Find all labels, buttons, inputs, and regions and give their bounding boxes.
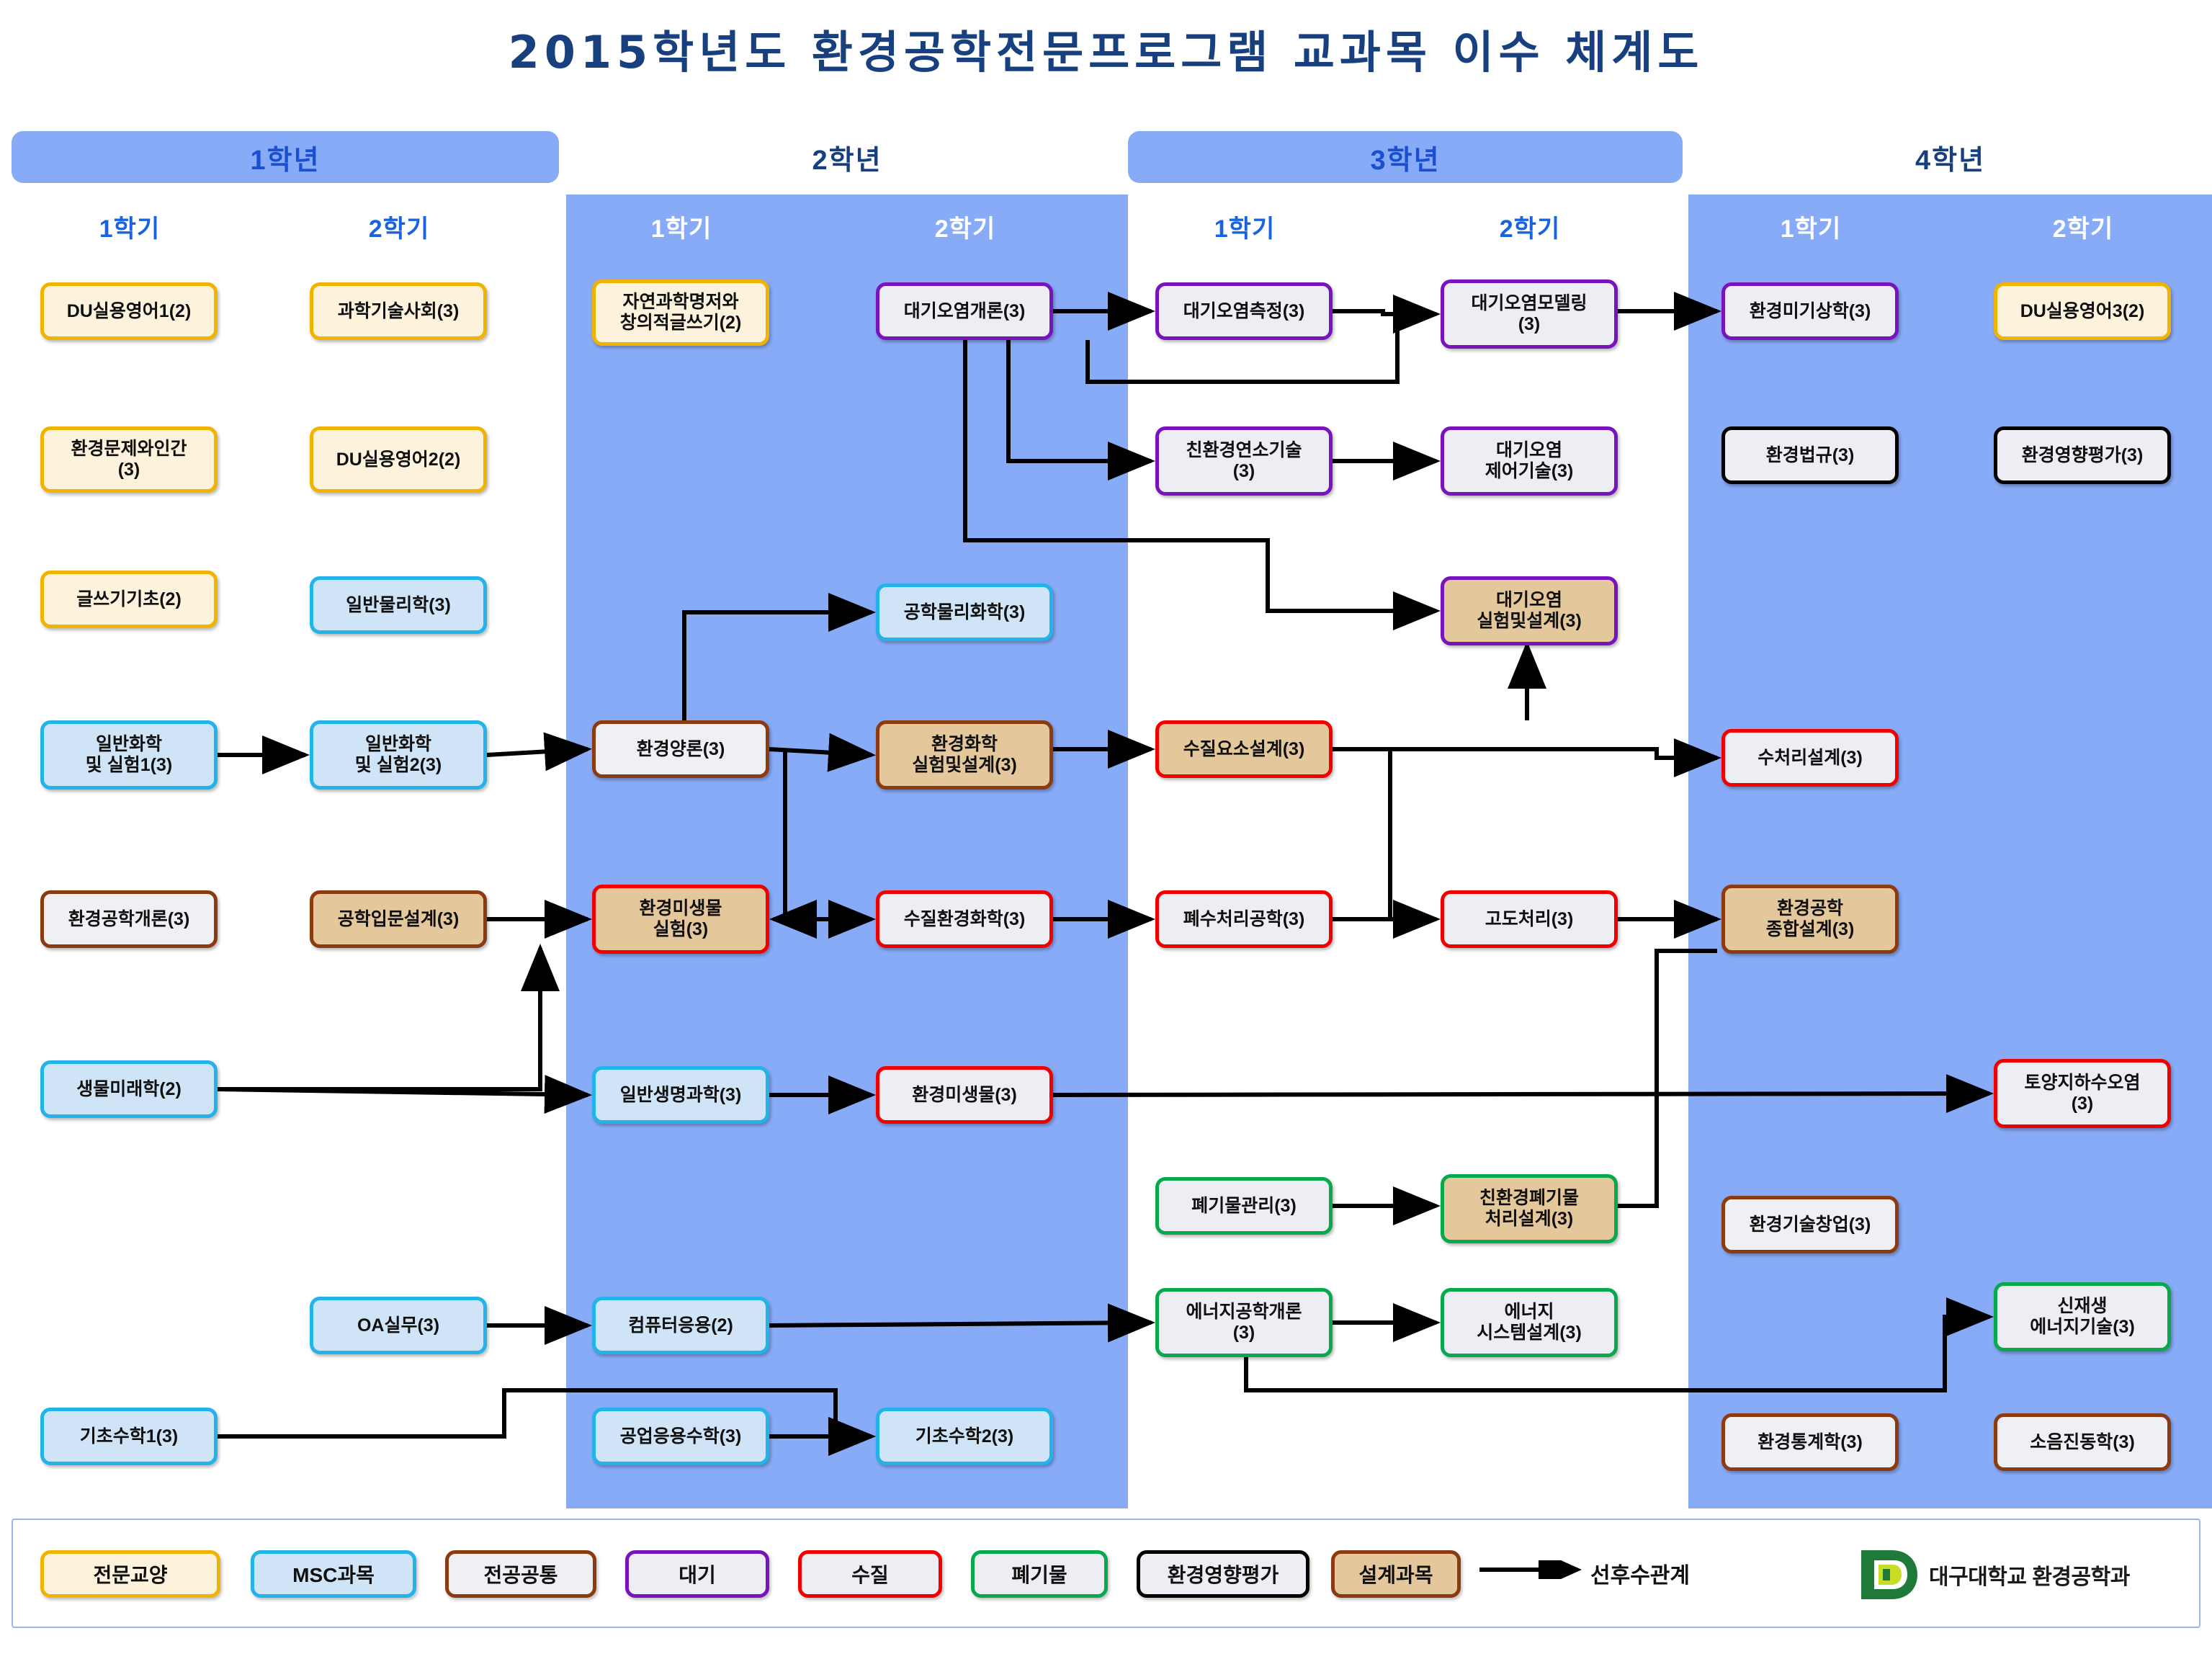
legend-bar: 전문교양MSC과목전공공통대기수질폐기물환경영향평가설계과목 선후수관계 대구대… [12, 1519, 2200, 1628]
university-logo: 대구대학교 환경공학과 [1857, 1546, 2130, 1604]
course-box[interactable]: 일반화학 및 실험2(3) [310, 720, 487, 790]
course-box[interactable]: 친환경폐기물 처리설계(3) [1441, 1174, 1618, 1243]
legend-item[interactable]: 폐기물 [971, 1550, 1108, 1598]
course-box[interactable]: 소음진동학(3) [1994, 1413, 2171, 1471]
course-box[interactable]: 대기오염 실험및설계(3) [1441, 576, 1618, 645]
semester-header-4: 2학기 [857, 209, 1073, 244]
course-box[interactable]: 수질환경화학(3) [876, 890, 1053, 948]
course-box[interactable]: 환경공학개론(3) [40, 890, 218, 948]
legend-item[interactable]: 전문교양 [40, 1550, 220, 1598]
course-box[interactable]: 생물미래학(2) [40, 1060, 218, 1118]
legend-item[interactable]: 환경영향평가 [1137, 1550, 1309, 1598]
course-box[interactable]: 토양지하수오염 (3) [1994, 1059, 2171, 1128]
legend-item[interactable]: 설계과목 [1331, 1550, 1461, 1598]
course-box[interactable]: 환경양론(3) [592, 720, 769, 778]
course-box[interactable]: 친환경연소기술 (3) [1155, 426, 1333, 496]
course-box[interactable]: 에너지 시스템설계(3) [1441, 1288, 1618, 1357]
course-box[interactable]: 환경미생물(3) [876, 1066, 1053, 1124]
course-box[interactable]: 공업응용수학(3) [592, 1408, 769, 1465]
page-title: 2015학년도 환경공학전문프로그램 교과목 이수 체계도 [0, 16, 2212, 81]
course-box[interactable]: 환경법규(3) [1721, 426, 1899, 484]
course-box[interactable]: 대기오염측정(3) [1155, 282, 1333, 340]
year-band-2: 2학년 [566, 131, 1128, 183]
course-box[interactable]: 고도처리(3) [1441, 890, 1618, 948]
year-band-4: 4학년 [1688, 131, 2212, 183]
course-box[interactable]: 폐수처리공학(3) [1155, 890, 1333, 948]
semester-header-5: 1학기 [1137, 209, 1353, 244]
course-box[interactable]: 환경미기상학(3) [1721, 282, 1899, 340]
legend-item[interactable]: MSC과목 [251, 1550, 416, 1598]
course-box[interactable]: 환경문제와인간 (3) [40, 426, 218, 493]
semester-header-1: 1학기 [22, 209, 238, 244]
course-box[interactable]: 대기오염모델링 (3) [1441, 280, 1618, 349]
course-box[interactable]: 수처리설계(3) [1721, 729, 1899, 787]
course-box[interactable]: 글쓰기기초(2) [40, 571, 218, 628]
semester-header-8: 2학기 [1975, 209, 2191, 244]
course-box[interactable]: 수질요소설계(3) [1155, 720, 1333, 778]
course-box[interactable]: 환경공학 종합설계(3) [1721, 885, 1899, 954]
year-band-1: 1학년 [12, 131, 559, 183]
legend-item[interactable]: 전공공통 [445, 1550, 596, 1598]
semester-header-2: 2학기 [291, 209, 507, 244]
course-box[interactable]: 신재생 에너지기술(3) [1994, 1282, 2171, 1351]
course-box[interactable]: 일반생명과학(3) [592, 1066, 769, 1124]
daegu-university-mark-icon [1857, 1546, 1920, 1604]
course-box[interactable]: 공학입문설계(3) [310, 890, 487, 948]
semester-header-6: 2학기 [1422, 209, 1638, 244]
course-box[interactable]: 과학기술사회(3) [310, 282, 487, 340]
course-box[interactable]: 환경기술창업(3) [1721, 1196, 1899, 1253]
semester-header-7: 1학기 [1703, 209, 1919, 244]
legend-item[interactable]: 수질 [798, 1550, 942, 1598]
course-box[interactable]: DU실용영어3(2) [1994, 282, 2171, 340]
course-box[interactable]: 폐기물관리(3) [1155, 1177, 1333, 1235]
course-box[interactable]: 환경화학 실험및설계(3) [876, 720, 1053, 790]
course-box[interactable]: 환경영향평가(3) [1994, 426, 2171, 484]
course-box[interactable]: 기초수학2(3) [876, 1408, 1053, 1465]
course-box[interactable]: 대기오염 제어기술(3) [1441, 426, 1618, 496]
course-box[interactable]: DU실용영어1(2) [40, 282, 218, 340]
course-box[interactable]: 컴퓨터응용(2) [592, 1297, 769, 1354]
curriculum-diagram: 2015학년도 환경공학전문프로그램 교과목 이수 체계도 1학년 2학년 3학… [0, 0, 2212, 1659]
course-box[interactable]: 기초수학1(3) [40, 1408, 218, 1465]
course-box[interactable]: DU실용영어2(2) [310, 426, 487, 493]
year-band-1-label: 1학년 [250, 138, 320, 177]
course-box[interactable]: 대기오염개론(3) [876, 282, 1053, 340]
course-box[interactable]: 환경통계학(3) [1721, 1413, 1899, 1471]
course-box[interactable]: 공학물리화학(3) [876, 583, 1053, 641]
course-box[interactable]: 일반화학 및 실험1(3) [40, 720, 218, 790]
year-band-4-label: 4학년 [1915, 138, 1985, 177]
legend-item[interactable]: 대기 [625, 1550, 769, 1598]
course-box[interactable]: 환경미생물 실험(3) [592, 885, 769, 954]
year-band-3-label: 3학년 [1370, 138, 1440, 177]
legend-arrow-label: 선후수관계 [1590, 1557, 1690, 1589]
year-band-3: 3학년 [1128, 131, 1683, 183]
course-box[interactable]: OA실무(3) [310, 1297, 487, 1354]
university-name-label: 대구대학교 환경공학과 [1929, 1559, 2130, 1591]
course-box[interactable]: 에너지공학개론 (3) [1155, 1288, 1333, 1357]
year-band-2-label: 2학년 [812, 138, 882, 177]
course-box[interactable]: 자연과학명저와 창의적글쓰기(2) [592, 280, 769, 346]
semester-header-3: 1학기 [573, 209, 789, 244]
course-box[interactable]: 일반물리학(3) [310, 576, 487, 634]
legend-arrow-icon [1477, 1560, 1585, 1579]
